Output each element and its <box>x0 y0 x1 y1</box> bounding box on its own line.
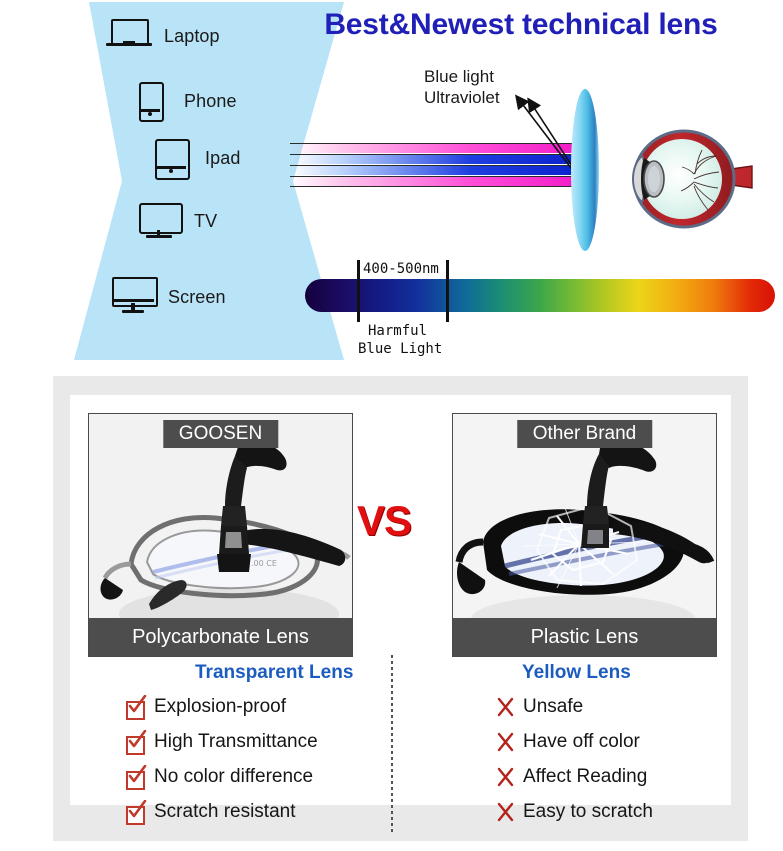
tablet-icon <box>147 138 193 178</box>
checkmark-icon <box>126 768 145 787</box>
lens-type-tag-plastic: Plastic Lens <box>453 618 716 656</box>
cross-icon <box>497 697 514 717</box>
feature-item-left-4: Scratch resistant <box>126 801 296 823</box>
device-label-tv: TV <box>194 211 217 232</box>
feature-item-left-3: No color difference <box>126 766 313 788</box>
product-photo-other-brand: Other Brand Plastic Lens <box>452 413 717 657</box>
brand-tag-other: Other Brand <box>517 420 653 448</box>
device-label-laptop: Laptop <box>164 26 220 47</box>
feature-label: High Transmittance <box>154 731 318 753</box>
annotation-line-1: Blue light <box>424 66 500 87</box>
checkmark-icon <box>126 698 145 717</box>
checkmark-icon <box>126 733 145 752</box>
page-title: Best&Newest technical lens <box>286 8 756 42</box>
feature-label: Easy to scratch <box>523 801 653 823</box>
cross-icon <box>497 732 514 752</box>
monitor-icon <box>110 277 156 317</box>
feature-label: Scratch resistant <box>154 801 296 823</box>
spectrum-tick-end <box>446 260 449 322</box>
device-row-screen: Screen <box>110 277 226 317</box>
column-title-transparent-lens: Transparent Lens <box>195 662 353 684</box>
feature-item-left-1: Explosion-proof <box>126 696 286 718</box>
top-infographic-section: Laptop Phone Ipad TV Screen <box>0 0 783 372</box>
product-photo-goosen: .00 CE GOOSEN Polycarbonate Lens <box>88 413 353 657</box>
annotation-line-2: Ultraviolet <box>424 87 500 108</box>
svg-text:.00 CE: .00 CE <box>251 559 277 568</box>
feature-label: Have off color <box>523 731 640 753</box>
blue-light-annotation: Blue light Ultraviolet <box>424 66 500 109</box>
column-title-yellow-lens: Yellow Lens <box>522 662 631 684</box>
spectrum-caption-line-1: Harmful <box>368 323 427 339</box>
vs-label: VS <box>357 497 411 545</box>
feature-item-right-1: Unsafe <box>497 696 583 718</box>
light-spectrum-diagram: 400-500nm Harmful Blue Light <box>305 279 775 321</box>
cross-icon <box>497 802 514 822</box>
blue-light-blocking-lens <box>571 89 599 251</box>
spectrum-tick-start <box>357 260 360 322</box>
cross-icon <box>497 767 514 787</box>
device-label-ipad: Ipad <box>205 148 240 169</box>
feature-item-right-4: Easy to scratch <box>497 801 653 823</box>
phone-icon <box>126 81 172 121</box>
device-row-ipad: Ipad <box>147 138 240 178</box>
laptop-icon <box>106 16 152 56</box>
column-divider <box>391 655 393 835</box>
tv-icon <box>136 201 182 241</box>
checkmark-icon <box>126 803 145 822</box>
feature-label: Unsafe <box>523 696 583 718</box>
feature-label: No color difference <box>154 766 313 788</box>
feature-label: Explosion-proof <box>154 696 286 718</box>
device-label-screen: Screen <box>168 287 226 308</box>
device-row-phone: Phone <box>126 81 237 121</box>
spectrum-range-label: 400-500nm <box>363 261 439 277</box>
spectrum-caption-line-2: Blue Light <box>358 341 442 357</box>
feature-item-left-2: High Transmittance <box>126 731 318 753</box>
spectrum-gradient-bar <box>305 279 775 312</box>
device-row-tv: TV <box>136 201 217 241</box>
feature-item-right-3: Affect Reading <box>497 766 647 788</box>
feature-label: Affect Reading <box>523 766 647 788</box>
eye-anatomy-illustration <box>620 126 760 234</box>
feature-item-right-2: Have off color <box>497 731 640 753</box>
brand-tag-goosen: GOOSEN <box>163 420 278 448</box>
device-label-phone: Phone <box>184 91 237 112</box>
device-row-laptop: Laptop <box>106 16 220 56</box>
lens-type-tag-polycarbonate: Polycarbonate Lens <box>89 618 352 656</box>
